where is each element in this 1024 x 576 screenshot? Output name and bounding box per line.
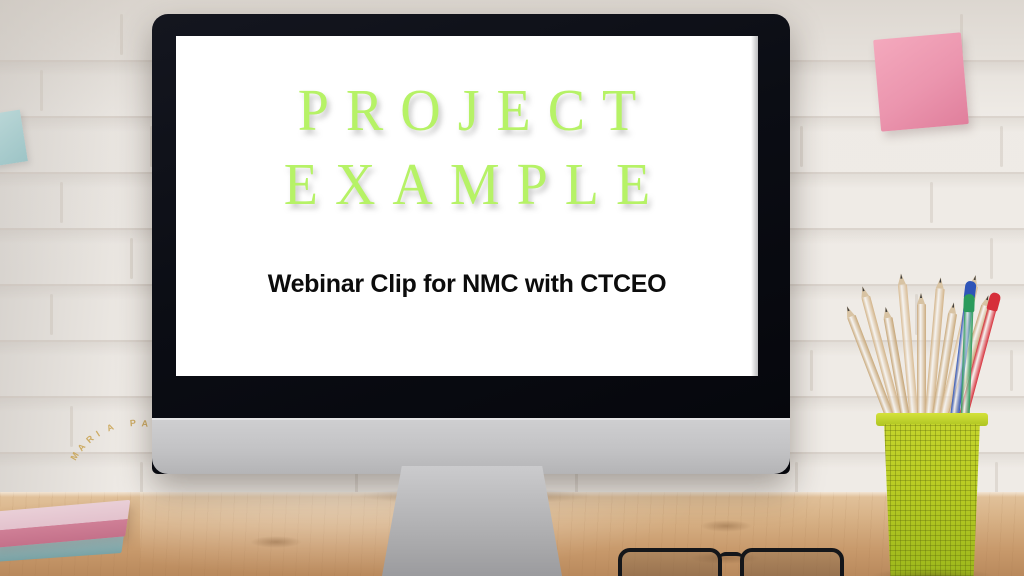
brick-seam xyxy=(800,126,803,167)
brick-seam xyxy=(930,182,933,223)
desktop-monitor: PROJECT EXAMPLE Webinar Clip for NMC wit… xyxy=(152,14,790,474)
pencil-lead xyxy=(939,277,941,282)
holder-shadow xyxy=(870,568,994,576)
brick-seam xyxy=(40,70,43,111)
brick-seam xyxy=(120,14,123,55)
brick-seam xyxy=(1000,126,1003,167)
wood-knot xyxy=(250,536,302,548)
pink-sticky-note-icon xyxy=(873,32,969,131)
slide-subtitle: Webinar Clip for NMC with CTCEO xyxy=(268,270,667,299)
desk-workspace-scene: MARIAPAULA PROJECT EXAMPLE Webinar Clip … xyxy=(0,0,1024,576)
brick-seam xyxy=(50,294,53,335)
slide-title-line-2: EXAMPLE xyxy=(267,146,667,224)
watermark-char: A xyxy=(141,418,149,429)
holder-cup xyxy=(880,424,984,576)
brick-seam xyxy=(990,238,993,279)
monitor-chin xyxy=(152,418,790,474)
pencil-holder xyxy=(866,316,996,576)
pen-cap xyxy=(963,294,975,312)
pencil-lead xyxy=(900,274,902,279)
holder-mesh xyxy=(880,424,984,576)
screen-glare xyxy=(751,36,758,376)
eyeglasses-icon xyxy=(618,548,868,576)
watermark-char: P xyxy=(129,418,137,429)
monitor-screen[interactable]: PROJECT EXAMPLE Webinar Clip for NMC wit… xyxy=(176,36,758,376)
pencil-lead xyxy=(920,293,922,298)
glasses-left-lens xyxy=(618,548,722,576)
brick-seam xyxy=(1010,350,1013,391)
brick-seam xyxy=(70,406,73,447)
brick-seam xyxy=(810,350,813,391)
monitor-stand xyxy=(382,466,562,576)
brick-seam xyxy=(60,182,63,223)
wood-knot xyxy=(700,520,752,532)
glasses-right-lens xyxy=(740,548,844,576)
presentation-slide: PROJECT EXAMPLE Webinar Clip for NMC wit… xyxy=(176,36,758,376)
slide-title-line-1: PROJECT xyxy=(281,72,654,150)
brick-seam xyxy=(130,238,133,279)
